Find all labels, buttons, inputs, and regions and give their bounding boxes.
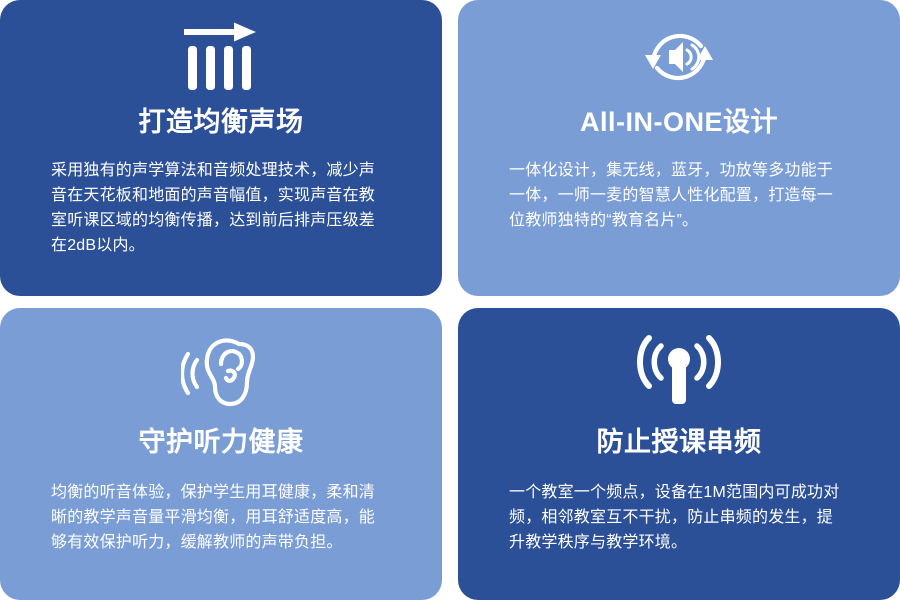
feature-card-all-in-one-design[interactable]: All-IN-ONE设计 一体化设计，集无线，蓝牙，功放等多功能于一体，一师一麦… <box>458 0 900 296</box>
card-description: 一体化设计，集无线，蓝牙，功放等多功能于一体，一师一麦的智慧人性化配置，打造每一… <box>509 158 849 233</box>
card-title: 打造均衡声场 <box>139 106 304 138</box>
broadcast-antenna-icon <box>637 330 721 412</box>
feature-card-balanced-sound-field[interactable]: 打造均衡声场 采用独有的声学算法和音频处理技术，减少声音在天花板和地面的声音幅值… <box>0 0 442 296</box>
card-description: 采用独有的声学算法和音频处理技术，减少声音在天花板和地面的声音幅值，实现声音在教… <box>51 158 391 258</box>
feature-card-hearing-health[interactable]: 守护听力健康 均衡的听音体验，保护学生用耳健康，柔和清晰的教学声音量平滑均衡，用… <box>0 308 442 600</box>
sound-level-arrow-icon <box>182 18 260 96</box>
feature-card-prevent-frequency-crosstalk[interactable]: 防止授课串频 一个教室一个频点，设备在1M范围内可成功对频，相邻教室互不干扰，防… <box>458 308 900 600</box>
speaker-sync-loop-icon <box>639 18 719 96</box>
card-title: 防止授课串频 <box>597 426 762 458</box>
card-description: 一个教室一个频点，设备在1M范围内可成功对频，相邻教室互不干扰，防止串频的发生，… <box>509 480 849 555</box>
card-description: 均衡的听音体验，保护学生用耳健康，柔和清晰的教学声音量平滑均衡，用耳舒适度高，能… <box>51 480 391 555</box>
feature-card-grid: 打造均衡声场 采用独有的声学算法和音频处理技术，减少声音在天花板和地面的声音幅值… <box>0 0 900 600</box>
card-title: All-IN-ONE设计 <box>580 106 778 138</box>
card-title: 守护听力健康 <box>139 426 304 458</box>
ear-hearing-icon <box>181 330 261 412</box>
